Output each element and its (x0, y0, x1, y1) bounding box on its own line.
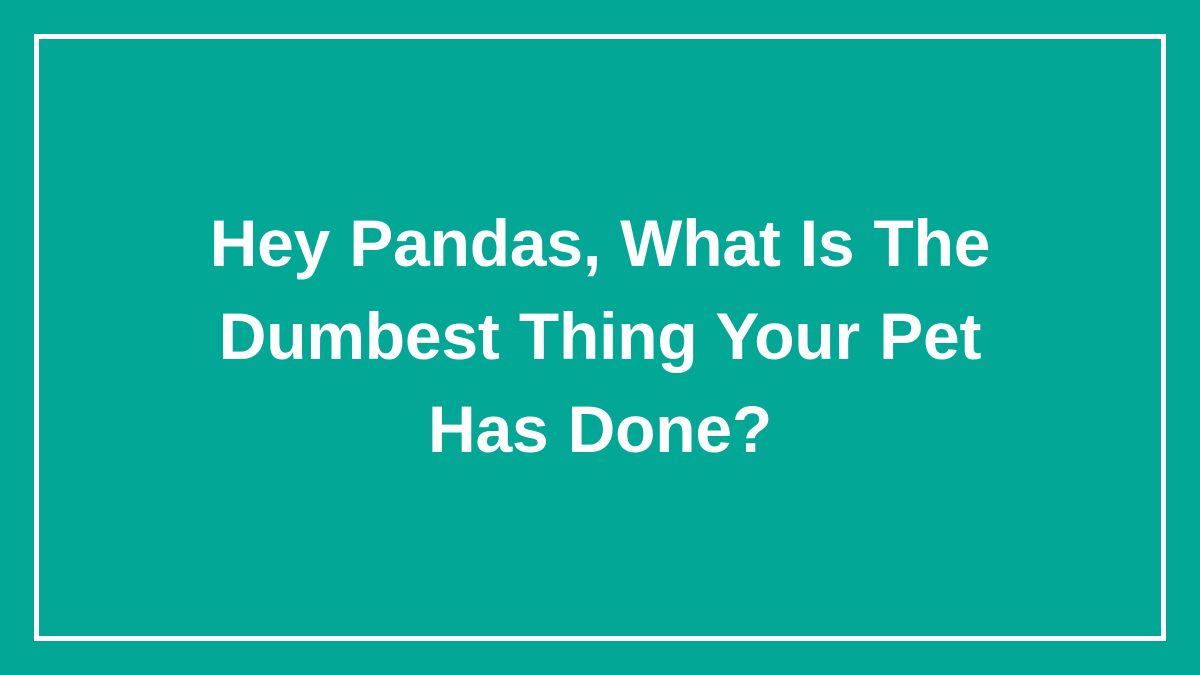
poster-border-frame: Hey Pandas, What Is The Dumbest Thing Yo… (34, 34, 1166, 641)
headline-block: Hey Pandas, What Is The Dumbest Thing Yo… (150, 197, 1050, 476)
page-title: Hey Pandas, What Is The Dumbest Thing Yo… (150, 197, 1050, 476)
poster-canvas: Hey Pandas, What Is The Dumbest Thing Yo… (0, 0, 1200, 675)
